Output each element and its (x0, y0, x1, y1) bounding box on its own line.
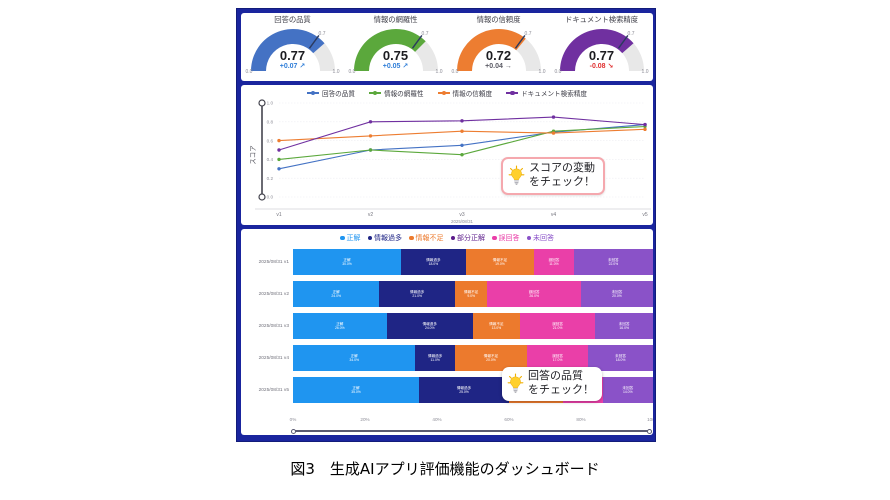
bar-row-label: 2025/08/31 v4 (241, 356, 293, 361)
bar-legend-item[interactable]: 未回答 (527, 233, 555, 243)
legend-dot-icon (451, 236, 456, 241)
gauge-threshold-label: 0.7 (525, 31, 532, 37)
bar-segment-percent: 13.0% (492, 326, 502, 330)
legend-dot-icon (492, 236, 497, 241)
bar-track: 正解34.0%情報過多11.0%情報不足20.0%誤回答17.0%未回答18.0… (293, 345, 653, 371)
callout-score-change: スコアの変動 をチェック！ (501, 157, 605, 195)
line-x-tick-label: v3 (459, 212, 465, 218)
line-y-tick-label: 0.6 (267, 138, 274, 143)
gauge-min-label: 0.0 (349, 69, 356, 75)
bar-segment[interactable]: 正解34.0% (293, 345, 415, 371)
bar-x-tick-label: 60% (504, 417, 513, 422)
bar-segment[interactable]: 正解30.0% (293, 249, 401, 275)
bar-segment[interactable]: 情報不足9.0% (455, 281, 487, 307)
line-y-tick-label: 1.0 (267, 101, 274, 106)
gauge-threshold-label: 0.7 (422, 31, 429, 37)
bar-row-label: 2025/08/31 v3 (241, 324, 293, 329)
gauge-min-label: 0.0 (555, 69, 562, 75)
bar-segment-percent: 21.0% (553, 326, 563, 330)
bar-row: 2025/08/31 v1正解30.0%情報過多18.0%情報不足19.0%誤回… (241, 249, 653, 275)
bar-segment-percent: 34.0% (349, 358, 359, 362)
callout-answer-quality-text: 回答の品質 をチェック！ (528, 370, 594, 397)
line-y-tick-label: 0.4 (267, 157, 274, 162)
gauge-title: 回答の品質 (274, 15, 310, 25)
bar-segment[interactable]: 正解26.0% (293, 313, 387, 339)
gauge-value: 0.77 (556, 49, 648, 62)
bar-segment[interactable]: 未回答16.0% (595, 313, 653, 339)
bar-segment[interactable]: 情報過多25.0% (419, 377, 509, 403)
gauge-min-label: 0.0 (452, 69, 459, 75)
line-data-point[interactable] (460, 144, 463, 147)
bar-segment[interactable]: 誤回答11.0% (534, 249, 574, 275)
bar-segment-percent: 24.0% (331, 294, 341, 298)
line-x-tick-label: v2 (368, 212, 374, 218)
bar-legend-label: 誤回答 (499, 233, 520, 243)
bar-segment-percent: 26.0% (335, 326, 345, 330)
bar-segment[interactable]: 情報不足13.0% (473, 313, 520, 339)
bar-segment-percent: 20.0% (486, 358, 496, 362)
line-x-tick-label: v1 (276, 212, 282, 218)
line-data-point[interactable] (277, 158, 280, 161)
bar-row-label: 2025/08/31 v5 (241, 388, 293, 393)
bar-segment[interactable]: 情報不足19.0% (466, 249, 534, 275)
gauge-min-label: 0.0 (246, 69, 253, 75)
line-chart-panel: 回答の品質情報の網羅性情報の信頼度ドキュメント検索精度 スコア 0.00.20.… (241, 85, 653, 225)
bar-segment-percent: 11.0% (431, 358, 440, 362)
gauge-max-label: 1.0 (436, 69, 443, 75)
line-data-point[interactable] (369, 134, 372, 137)
bar-track: 正解24.0%情報過多21.0%情報不足9.0%誤回答26.0%未回答20.0% (293, 281, 653, 307)
bar-segment[interactable]: 正解24.0% (293, 281, 379, 307)
legend-dot-icon (527, 236, 532, 241)
legend-dot-icon (340, 236, 345, 241)
legend-dot-icon (409, 236, 414, 241)
stacked-bar-legend: 正解情報過多情報不足部分正解誤回答未回答 (241, 233, 653, 243)
bar-legend-label: 情報過多 (374, 233, 402, 243)
line-data-point[interactable] (643, 123, 646, 126)
bar-row: 2025/08/31 v2正解24.0%情報過多21.0%情報不足9.0%誤回答… (241, 281, 653, 307)
bar-segment-percent: 21.0% (412, 294, 422, 298)
gauge-threshold-label: 0.7 (319, 31, 326, 37)
bar-segment[interactable]: 未回答14.0% (603, 377, 653, 403)
bar-segment[interactable]: 未回答22.0% (574, 249, 653, 275)
gauge-title: ドキュメント検索精度 (565, 15, 638, 25)
bar-segment[interactable]: 情報過多24.0% (387, 313, 473, 339)
line-data-point[interactable] (277, 167, 280, 170)
bar-segment-percent: 18.0% (616, 358, 626, 362)
line-chart-svg: 0.00.20.40.60.81.0v1v2v3v4v52025/08/31 (241, 85, 653, 225)
line-data-point[interactable] (460, 153, 463, 156)
bar-row: 2025/08/31 v3正解26.0%情報過多24.0%情報不足13.0%誤回… (241, 313, 653, 339)
bar-legend-label: 正解 (347, 233, 361, 243)
bar-segment[interactable]: 誤回答21.0% (520, 313, 596, 339)
bar-x-tick-label: 20% (360, 417, 369, 422)
gauge-card-2: 情報の網羅性0.75+0.05 ↗0.01.00.7 (344, 13, 447, 81)
line-data-point[interactable] (369, 148, 372, 151)
bar-axis-right-handle[interactable] (647, 429, 652, 434)
callout-line-1: 回答の品質 (528, 370, 594, 384)
bar-x-tick-label: 0% (290, 417, 297, 422)
gauge-value: 0.77 (247, 49, 339, 62)
gauge-dial: 0.77+0.07 ↗0.01.00.7 (247, 26, 339, 76)
line-x-axis-label: 2025/08/31 (451, 219, 474, 224)
callout-answer-quality: 回答の品質 をチェック！ (502, 367, 602, 401)
callout-score-change-text: スコアの変動 をチェック！ (529, 162, 595, 189)
bar-segment-percent: 11.0% (549, 262, 558, 266)
line-data-point[interactable] (552, 131, 555, 134)
line-data-point[interactable] (643, 128, 646, 131)
gauge-dial: 0.77-0.08 ↘0.01.00.7 (556, 26, 648, 76)
line-data-point[interactable] (552, 115, 555, 118)
line-y-tick-label: 0.8 (267, 120, 274, 125)
bar-track: 正解30.0%情報過多18.0%情報不足19.0%誤回答11.0%未回答22.0… (293, 249, 653, 275)
line-data-point[interactable] (460, 130, 463, 133)
legend-dot-icon (368, 236, 373, 241)
bar-legend-item[interactable]: 正解 (340, 233, 361, 243)
line-data-point[interactable] (460, 119, 463, 122)
bar-segment-percent: 35.0% (351, 390, 361, 394)
figure-caption: 図3 生成AIアプリ評価機能のダッシュボード (0, 458, 890, 479)
gauge-card-4: ドキュメント検索精度0.77-0.08 ↘0.01.00.7 (550, 13, 653, 81)
gauge-value: 0.75 (350, 49, 442, 62)
gauge-card-3: 情報の信頼度0.72+0.04 →0.01.00.7 (447, 13, 550, 81)
bar-row-label: 2025/08/31 v1 (241, 260, 293, 265)
callout-line-2: をチェック！ (528, 384, 594, 398)
bar-segment-percent: 17.0% (553, 358, 563, 362)
gauge-panel: 回答の品質0.77+0.07 ↗0.01.00.7情報の網羅性0.75+0.05… (241, 13, 653, 81)
bar-track: 正解26.0%情報過多24.0%情報不足13.0%誤回答21.0%未回答16.0… (293, 313, 653, 339)
gauge-delta: -0.08 ↘ (556, 63, 648, 71)
bar-legend-item[interactable]: 誤回答 (492, 233, 520, 243)
gauge-card-1: 回答の品質0.77+0.07 ↗0.01.00.7 (241, 13, 344, 81)
bar-segment[interactable]: 未回答20.0% (581, 281, 653, 307)
bar-segment-percent: 16.0% (619, 326, 629, 330)
callout-line-2: をチェック！ (529, 176, 595, 190)
gauge-dial: 0.72+0.04 →0.01.00.7 (453, 26, 545, 76)
bar-x-tick-label: 80% (576, 417, 585, 422)
line-y-tick-label: 0.0 (267, 195, 274, 200)
bar-segment[interactable]: 誤回答26.0% (487, 281, 581, 307)
gauge-title: 情報の信頼度 (477, 15, 521, 25)
bar-segment[interactable]: 正解35.0% (293, 377, 419, 403)
bar-axis-left-handle[interactable] (291, 429, 296, 434)
gauge-title: 情報の網羅性 (374, 15, 418, 25)
lightbulb-icon (508, 165, 525, 186)
line-x-tick-label: v4 (551, 212, 557, 218)
gauge-value: 0.72 (453, 49, 545, 62)
gauge-dial: 0.75+0.05 ↗0.01.00.7 (350, 26, 442, 76)
gauge-delta: +0.04 → (453, 63, 545, 71)
bar-segment-percent: 9.0% (467, 294, 475, 298)
bar-legend-label: 未回答 (533, 233, 554, 243)
bar-segment[interactable]: 情報過多11.0% (415, 345, 455, 371)
bar-segment-percent: 14.0% (623, 390, 633, 394)
line-data-point[interactable] (277, 139, 280, 142)
bar-legend-label: 部分正解 (457, 233, 485, 243)
bar-x-tick-label: 100% (647, 417, 653, 422)
bar-x-tick-label: 40% (432, 417, 441, 422)
dashboard-frame: 回答の品質0.77+0.07 ↗0.01.00.7情報の網羅性0.75+0.05… (236, 8, 656, 442)
line-y-tick-label: 0.2 (267, 176, 274, 181)
bar-segment-percent: 22.0% (609, 262, 619, 266)
bar-segment[interactable]: 情報過多18.0% (401, 249, 466, 275)
bar-legend-item[interactable]: 情報過多 (368, 233, 403, 243)
lightbulb-icon (507, 373, 524, 394)
bar-x-axis-ticks: 0%20%40%60%80%100% (293, 417, 653, 431)
bar-segment-percent: 30.0% (342, 262, 352, 266)
line-data-point[interactable] (277, 148, 280, 151)
line-data-point[interactable] (369, 120, 372, 123)
gauge-threshold-label: 0.7 (628, 31, 635, 37)
bar-segment-percent: 26.0% (529, 294, 539, 298)
gauge-delta: +0.05 ↗ (350, 63, 442, 71)
bar-segment[interactable]: 情報過多21.0% (379, 281, 455, 307)
line-x-tick-label: v5 (642, 212, 648, 218)
bar-segment-percent: 25.0% (459, 390, 469, 394)
bar-segment-percent: 20.0% (612, 294, 622, 298)
bar-legend-item[interactable]: 情報不足 (409, 233, 444, 243)
bar-legend-label: 情報不足 (416, 233, 444, 243)
gauge-max-label: 1.0 (333, 69, 340, 75)
gauge-max-label: 1.0 (642, 69, 649, 75)
bar-segment-percent: 19.0% (495, 262, 505, 266)
gauge-max-label: 1.0 (539, 69, 546, 75)
bar-segment-percent: 18.0% (429, 262, 439, 266)
stacked-bar-panel: 正解情報過多情報不足部分正解誤回答未回答 2025/08/31 v1正解30.0… (241, 229, 653, 435)
bar-legend-item[interactable]: 部分正解 (451, 233, 486, 243)
bar-segment-percent: 24.0% (425, 326, 435, 330)
bar-row-label: 2025/08/31 v2 (241, 292, 293, 297)
callout-line-1: スコアの変動 (529, 162, 595, 176)
gauge-delta: +0.07 ↗ (247, 63, 339, 71)
